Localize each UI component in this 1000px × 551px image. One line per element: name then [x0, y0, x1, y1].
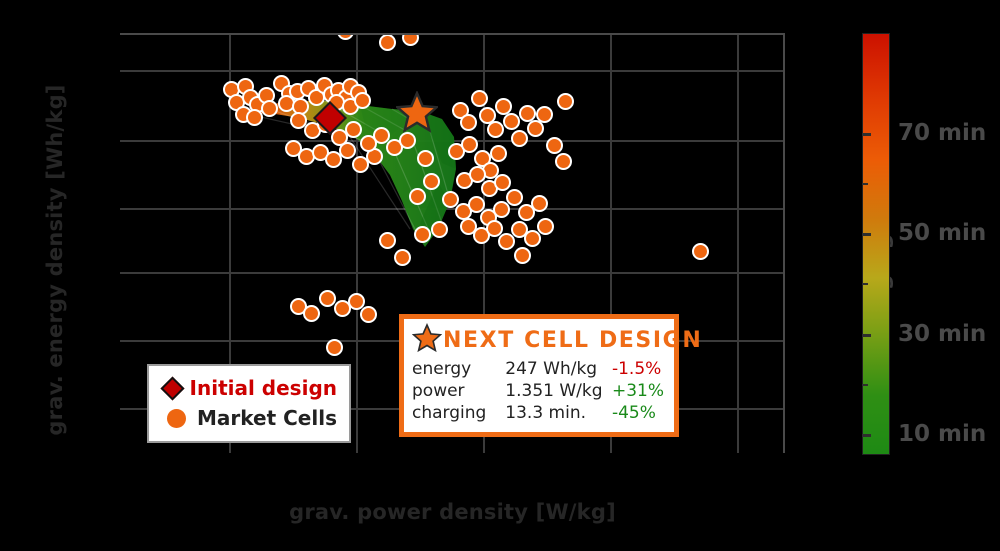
legend-item-initial-design: Initial design	[161, 373, 337, 403]
colorbar-minor-tick	[862, 183, 868, 185]
scatter-point	[536, 106, 553, 123]
y-axis-label: grav. energy density [Wh/kg]	[43, 50, 67, 470]
infobox-row: power1.351 W/kg+31%	[412, 380, 664, 402]
scatter-point	[468, 196, 485, 213]
legend-item-market-cells: Market Cells	[161, 403, 337, 433]
scatter-point	[354, 92, 371, 109]
circle-icon	[161, 409, 191, 428]
x-axis-label: grav. power density [W/kg]	[120, 500, 785, 524]
scatter-point	[506, 189, 523, 206]
scatter-point	[487, 121, 504, 138]
scatter-point	[261, 100, 278, 117]
colorbar-gradient	[862, 33, 890, 455]
infobox-metric-value: 13.3 min.	[505, 402, 612, 424]
infobox-metric-value: 1.351 W/kg	[505, 380, 612, 402]
scatter-point	[394, 249, 411, 266]
scatter-point	[360, 306, 377, 323]
scatter-point	[373, 127, 390, 144]
colorbar-tick-label: 30 min	[898, 321, 986, 347]
scatter-point	[692, 243, 709, 260]
scatter-point	[494, 174, 511, 191]
scatter-point	[546, 137, 563, 154]
scatter-point	[557, 93, 574, 110]
scatter-point	[493, 201, 510, 218]
infobox-row: energy247 Wh/kg-1.5%	[412, 358, 664, 380]
infobox-metric-delta: -1.5%	[612, 358, 664, 380]
scatter-point	[519, 105, 536, 122]
scatter-point	[495, 98, 512, 115]
colorbar-tick	[862, 334, 871, 337]
scatter-point	[379, 34, 396, 51]
scatter-point	[524, 230, 541, 247]
scatter-point	[537, 218, 554, 235]
colorbar-tick-label: 50 min	[898, 220, 986, 246]
legend-label-initial-design: Initial design	[190, 376, 337, 400]
infobox-title-row: NEXT CELL DESIGN	[412, 323, 664, 357]
star-icon	[412, 323, 442, 357]
scatter-point	[423, 173, 440, 190]
scatter-point	[417, 150, 434, 167]
scatter-point	[503, 113, 520, 130]
infobox-row: charging13.3 min.-45%	[412, 402, 664, 424]
scatter-point	[246, 109, 263, 126]
colorbar-tick	[862, 133, 871, 136]
plot-frame-right	[783, 33, 785, 453]
scatter-point	[348, 293, 365, 310]
legend: Initial design Market Cells	[147, 364, 351, 443]
infobox-metric-name: power	[412, 380, 505, 402]
scatter-point	[303, 305, 320, 322]
scatter-point	[555, 153, 572, 170]
scatter-point	[490, 145, 507, 162]
scatter-point	[319, 290, 336, 307]
scatter-point	[461, 136, 478, 153]
infobox-metric-name: charging	[412, 402, 505, 424]
colorbar	[862, 33, 890, 455]
scatter-point	[409, 188, 426, 205]
diamond-icon	[161, 380, 184, 397]
infobox-title: NEXT CELL DESIGN	[443, 328, 702, 353]
next-cell-design-infobox: NEXT CELL DESIGN energy247 Wh/kg-1.5%pow…	[399, 314, 679, 437]
scatter-point	[442, 191, 459, 208]
scatter-point	[471, 90, 488, 107]
scatter-point	[514, 247, 531, 264]
colorbar-tick	[862, 233, 871, 236]
next-cell-design-marker	[396, 91, 438, 137]
scatter-point	[460, 114, 477, 131]
colorbar-tick-label: 70 min	[898, 120, 986, 146]
scatter-point	[345, 121, 362, 138]
scatter-point	[469, 166, 486, 183]
colorbar-tick-label: 10 min	[898, 421, 986, 447]
chart-figure: grav. energy density [Wh/kg]	[0, 0, 1000, 551]
scatter-point	[511, 130, 528, 147]
scatter-point	[486, 220, 503, 237]
infobox-metric-delta: -45%	[612, 402, 664, 424]
scatter-point	[326, 339, 343, 356]
infobox-metric-name: energy	[412, 358, 505, 380]
infobox-metric-value: 247 Wh/kg	[505, 358, 612, 380]
plot-frame-top	[120, 33, 785, 35]
colorbar-tick	[862, 434, 871, 437]
scatter-point	[431, 221, 448, 238]
colorbar-minor-tick	[862, 283, 868, 285]
scatter-point	[379, 232, 396, 249]
colorbar-minor-tick	[862, 384, 868, 386]
scatter-point	[414, 226, 431, 243]
infobox-table: energy247 Wh/kg-1.5%power1.351 W/kg+31%c…	[412, 358, 664, 424]
scatter-point	[531, 195, 548, 212]
scatter-point	[498, 233, 515, 250]
infobox-metric-delta: +31%	[612, 380, 664, 402]
legend-label-market-cells: Market Cells	[197, 406, 337, 430]
